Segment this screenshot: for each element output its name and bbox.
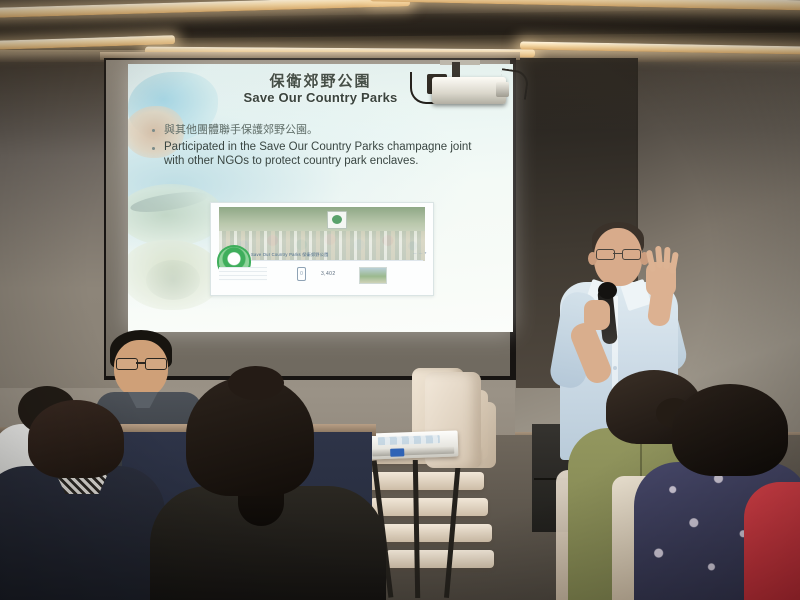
ceiling-mounted-projector xyxy=(432,77,506,104)
facebook-thumbnail-image xyxy=(359,267,387,284)
slide-bullet-item: 與其他團體聯手保護郊野公園。 xyxy=(150,122,480,137)
slide-bullet-english: Participated in the Save Our Country Par… xyxy=(164,140,480,168)
presenter-eyeglasses xyxy=(596,249,640,259)
projector-lens xyxy=(496,82,509,97)
audience-hair xyxy=(672,384,788,476)
audience-hair xyxy=(28,400,124,478)
laptop-port-strip xyxy=(372,447,454,457)
facebook-page-name: Save Our Country Parks 保衛郊野公園 xyxy=(251,252,328,258)
panelist-eyeglasses xyxy=(116,358,166,369)
slide-bullet-chinese: 與其他團體聯手保護郊野公園。 xyxy=(164,122,480,137)
slide-bullet-item: Participated in the Save Our Country Par… xyxy=(150,140,480,168)
facebook-nav-divider xyxy=(251,260,423,261)
facebook-nav-links: — — ▾ xyxy=(413,251,427,255)
thumbs-up-icon: 0 xyxy=(297,267,306,281)
audience-red-top xyxy=(744,482,800,600)
presenter-laptop xyxy=(368,430,459,459)
microphone-head xyxy=(598,282,617,299)
presenter-left-hand xyxy=(584,300,610,330)
campaign-placard-icon xyxy=(327,211,347,229)
facebook-side-text-block xyxy=(219,267,267,281)
slide-bullet-list: 與其他團體聯手保護郊野公園。 Participated in the Save … xyxy=(150,122,480,171)
vga-connector xyxy=(390,448,404,456)
facebook-like-count: 3,402 xyxy=(321,271,336,277)
shirt-button xyxy=(613,366,617,370)
projector-mount xyxy=(440,60,480,65)
hair-bun xyxy=(228,366,284,400)
laptop-screen-reflection xyxy=(378,435,440,445)
embedded-facebook-screenshot: Save Our Country Parks 保衛郊野公園 — — ▾ 0 3,… xyxy=(210,202,434,296)
presentation-photo-scene: 保衛郊野公園 Save Our Country Parks 與其他團體聯手保護郊… xyxy=(0,0,800,600)
projected-slide: 保衛郊野公園 Save Our Country Parks 與其他團體聯手保護郊… xyxy=(128,64,513,332)
